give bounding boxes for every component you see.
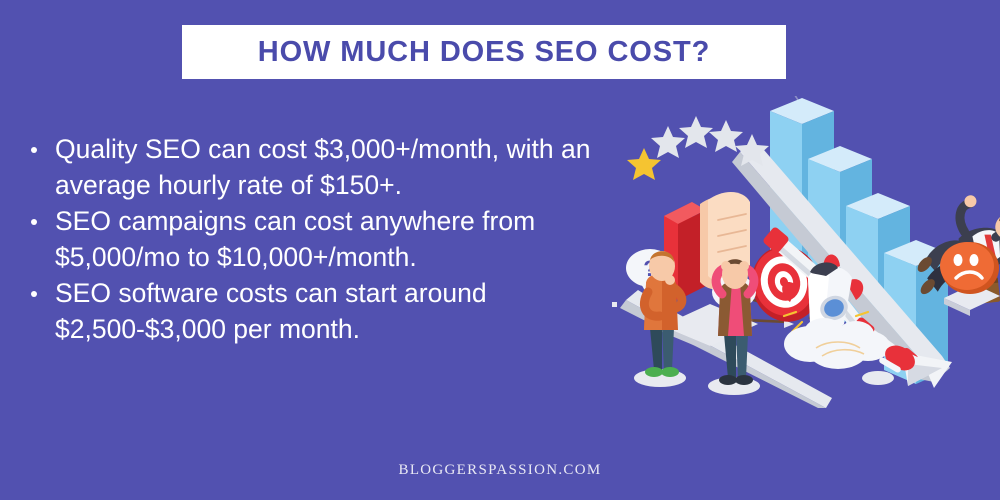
site-attribution: BLOGGERSPASSION.COM: [0, 462, 1000, 479]
list-item-text: SEO software costs can start around $2,5…: [55, 278, 487, 344]
list-item: SEO software costs can start around $2,5…: [22, 276, 652, 347]
page-title: HOW MUCH DOES SEO COST?: [258, 36, 711, 69]
title-banner: HOW MUCH DOES SEO COST?: [182, 25, 786, 79]
list-item: SEO campaigns can cost anywhere from $5,…: [22, 204, 652, 275]
decorative-dot-icon: [612, 302, 617, 307]
bullet-dot-icon: [31, 219, 37, 225]
bullet-dot-icon: [31, 291, 37, 297]
list-item: Quality SEO can cost $3,000+/month, with…: [22, 132, 652, 203]
sad-face-emoji-icon: [940, 242, 1000, 316]
bullet-dot-icon: [31, 147, 37, 153]
seo-failure-illustration: ?: [612, 96, 1000, 408]
key-facts-list: Quality SEO can cost $3,000+/month, with…: [22, 132, 652, 348]
seo-cost-infographic: HOW MUCH DOES SEO COST? Quality SEO can …: [0, 0, 1000, 500]
list-item-text: Quality SEO can cost $3,000+/month, with…: [55, 134, 590, 200]
star-gold: [627, 148, 661, 180]
list-item-text: SEO campaigns can cost anywhere from $5,…: [55, 206, 535, 272]
